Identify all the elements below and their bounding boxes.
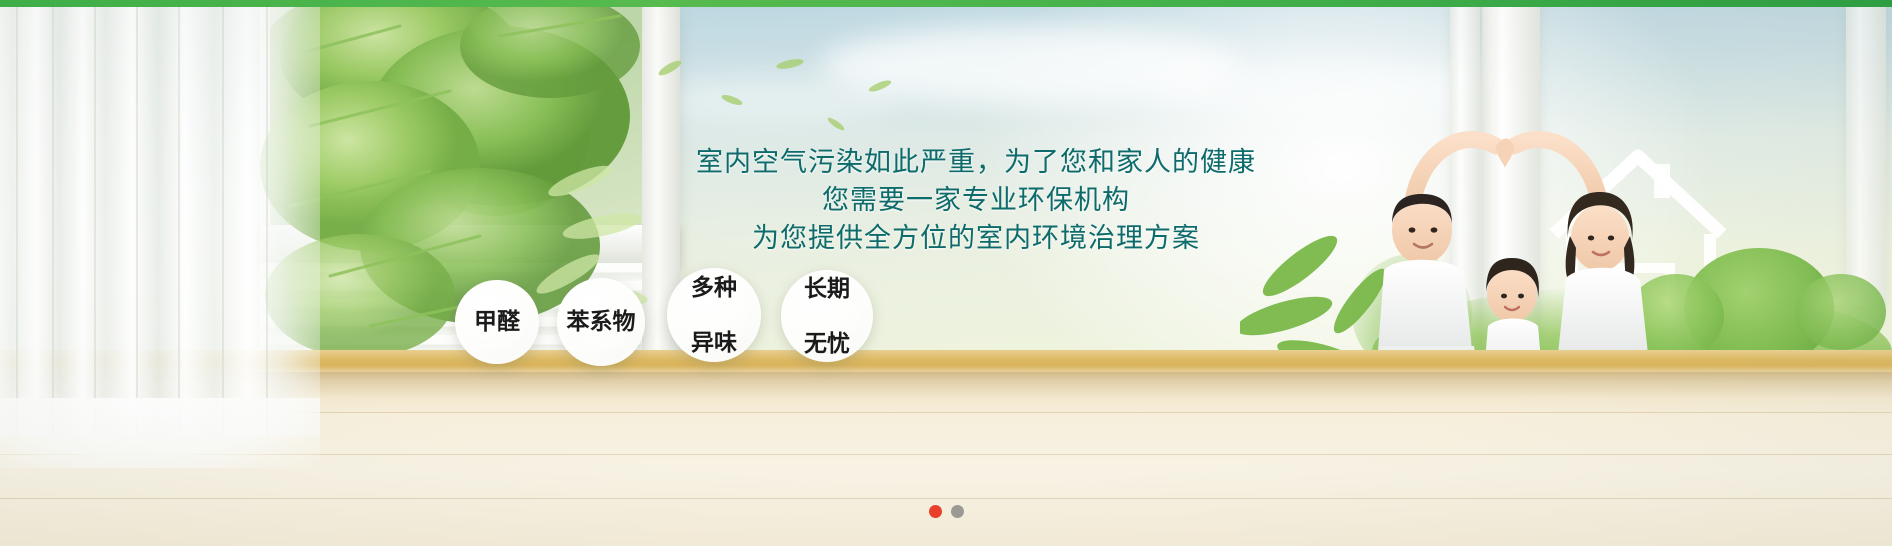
hero-banner: 室内空气污染如此严重，为了您和家人的健康 您需要一家专业环保机构 为您提供全方位… xyxy=(0,0,1892,546)
badge-line-1: 苯系物 xyxy=(567,308,636,335)
headline-line-1: 室内空气污染如此严重，为了您和家人的健康 xyxy=(0,143,1892,181)
curtain-hem xyxy=(0,398,320,468)
carousel-pagination xyxy=(0,505,1892,518)
badge-line-1: 甲醛 xyxy=(474,308,520,335)
banner-background xyxy=(0,6,1892,546)
carousel-dot-1[interactable] xyxy=(929,505,942,518)
badge-formaldehyde[interactable]: 甲醛 xyxy=(455,280,539,364)
badge-line-1: 多种 xyxy=(691,274,737,301)
badge-line-2: 无忧 xyxy=(804,330,850,357)
badge-longterm[interactable]: 长期 无忧 xyxy=(781,270,873,362)
headline-line-3: 为您提供全方位的室内环境治理方案 xyxy=(0,219,1892,257)
banner-headline: 室内空气污染如此严重，为了您和家人的健康 您需要一家专业环保机构 为您提供全方位… xyxy=(0,143,1892,257)
bush-icon xyxy=(1796,274,1886,350)
carousel-dot-2[interactable] xyxy=(951,505,964,518)
badge-benzene[interactable]: 苯系物 xyxy=(557,278,645,366)
badge-odors[interactable]: 多种 异味 xyxy=(667,268,761,362)
badge-line-1: 长期 xyxy=(804,275,850,302)
top-accent-bar xyxy=(0,0,1892,7)
badge-line-2: 异味 xyxy=(691,329,737,356)
headline-line-2: 您需要一家专业环保机构 xyxy=(0,181,1892,219)
